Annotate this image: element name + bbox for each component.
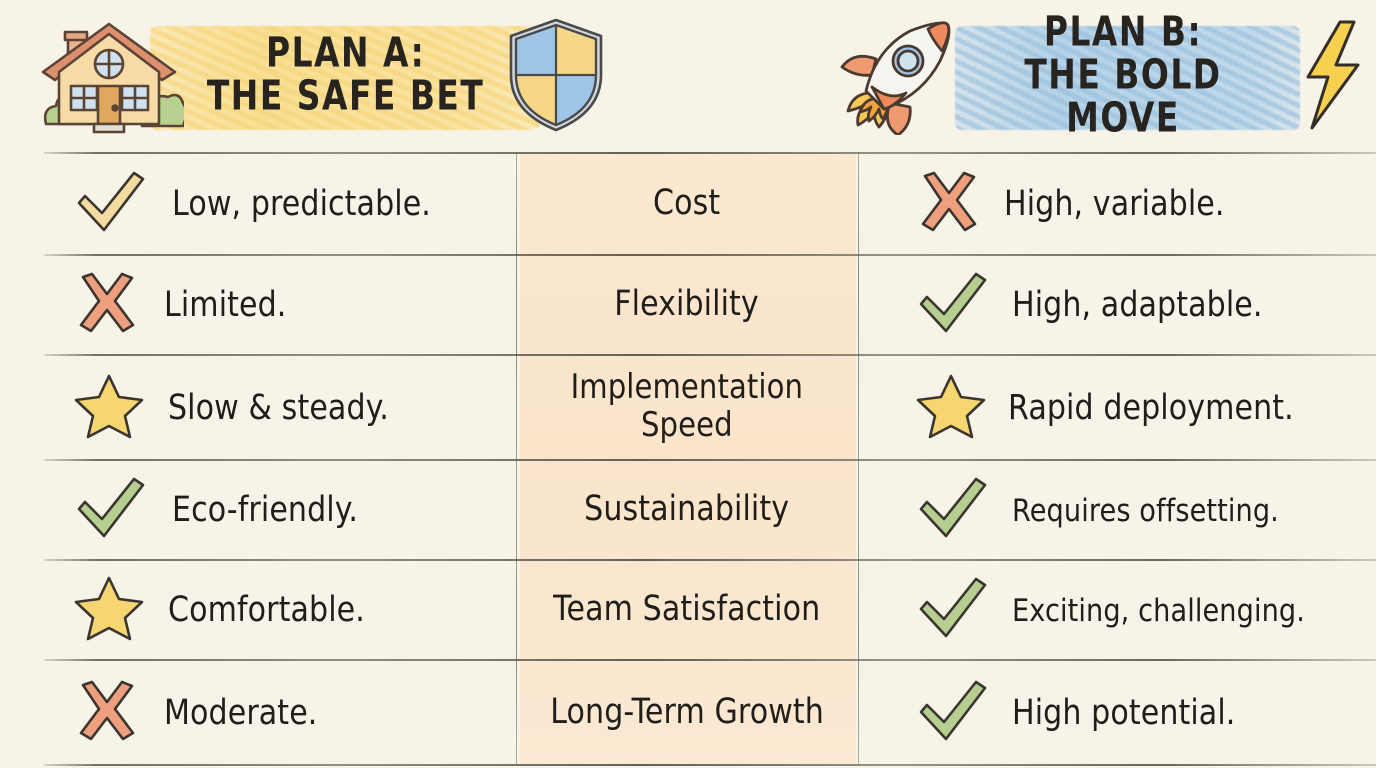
criterion-cell: ImplementationSpeed	[516, 355, 858, 460]
check-green-icon	[916, 270, 990, 340]
plan-b-title-line1: PLAN B:	[1044, 10, 1202, 56]
house-icon	[34, 16, 184, 138]
criterion-label: Sustainability	[585, 489, 790, 529]
table-row: Low, predictable.CostHigh, variable.	[0, 153, 1376, 255]
plan-a-value: Limited.	[164, 285, 286, 325]
plan-a-cell: Low, predictable.	[0, 153, 516, 255]
plan-a-value: Eco-friendly.	[172, 490, 358, 530]
criterion-cell: Long-Term Growth	[516, 660, 858, 765]
plan-a-title-line1: PLAN A:	[266, 31, 425, 77]
rocket-icon	[832, 15, 954, 139]
plan-b-value: High potential.	[1012, 692, 1235, 732]
plan-b-title: PLAN B: THE BOLD MOVE	[964, 12, 1282, 141]
plan-b-cell: Exciting, challenging.	[858, 560, 1376, 660]
cross-red-icon	[74, 271, 140, 339]
comparison-table-body: Low, predictable.CostHigh, variable.Limi…	[0, 153, 1376, 768]
check-yellow-icon	[74, 169, 148, 239]
plan-a-value: Comfortable.	[168, 590, 365, 630]
plan-b-header: PLAN B: THE BOLD MOVE	[820, 0, 1376, 153]
plan-b-title-line2: THE BOLD MOVE	[964, 55, 1282, 141]
plan-a-header: PLAN A: THE SAFE BET	[0, 0, 620, 153]
criterion-label: Flexibility	[615, 284, 760, 324]
check-green-icon	[74, 475, 148, 545]
row-divider	[44, 459, 1376, 461]
plan-a-value: Low, predictable.	[172, 184, 431, 224]
plan-a-cell: Moderate.	[0, 660, 516, 765]
criterion-cell: Cost	[516, 153, 858, 255]
row-divider	[44, 254, 1376, 256]
plan-b-cell: High potential.	[858, 660, 1376, 765]
plan-b-cell: Rapid deployment.	[858, 355, 1376, 460]
star-yellow-icon	[916, 372, 986, 444]
check-green-icon	[916, 475, 990, 545]
cross-red-icon	[916, 170, 982, 238]
table-row: Comfortable.Team SatisfactionExciting, c…	[0, 560, 1376, 660]
plan-a-value: Slow & steady.	[168, 387, 389, 427]
plan-a-value: Moderate.	[164, 692, 317, 732]
plan-b-value: High, adaptable.	[1012, 285, 1263, 325]
criterion-label: Cost	[653, 183, 720, 223]
plan-b-cell: Requires offsetting.	[858, 460, 1376, 560]
plan-a-title: PLAN A: THE SAFE BET	[207, 33, 485, 119]
criterion-line2: Speed	[641, 406, 733, 445]
row-divider	[44, 659, 1376, 661]
lightning-bolt-icon	[1292, 17, 1370, 137]
row-divider	[44, 152, 1376, 154]
table-row: Moderate.Long-Term GrowthHigh potential.	[0, 660, 1376, 765]
cross-red-icon	[74, 679, 140, 747]
plan-b-value: High, variable.	[1004, 184, 1225, 224]
table-row: Limited.FlexibilityHigh, adaptable.	[0, 255, 1376, 355]
plan-a-cell: Limited.	[0, 255, 516, 355]
plan-a-cell: Eco-friendly.	[0, 460, 516, 560]
plan-b-cell: High, variable.	[858, 153, 1376, 255]
criterion-cell: Flexibility	[516, 255, 858, 355]
criterion-label: Long-Term Growth	[550, 692, 824, 732]
plan-b-cell: High, adaptable.	[858, 255, 1376, 355]
plan-b-value: Requires offsetting.	[1012, 492, 1279, 529]
comparison-table-sheet: PLAN A: THE SAFE BET	[0, 0, 1376, 768]
plan-a-cell: Comfortable.	[0, 560, 516, 660]
star-yellow-icon	[74, 372, 144, 444]
star-yellow-icon	[74, 574, 144, 646]
criterion-cell: Team Satisfaction	[516, 560, 858, 660]
criterion-label: Team Satisfaction	[553, 589, 820, 629]
plan-a-title-line2: THE SAFE BET	[207, 77, 485, 120]
criterion-cell: Sustainability	[516, 460, 858, 560]
plan-b-value: Rapid deployment.	[1008, 387, 1294, 427]
row-divider	[44, 354, 1376, 356]
row-divider	[44, 559, 1376, 561]
check-green-icon	[916, 575, 990, 645]
table-header: PLAN A: THE SAFE BET	[0, 0, 1376, 153]
criterion-line1: Implementation	[571, 368, 803, 407]
shield-icon	[508, 17, 604, 137]
table-row: Slow & steady.ImplementationSpeedRapid d…	[0, 355, 1376, 460]
plan-a-cell: Slow & steady.	[0, 355, 516, 460]
plan-b-value: Exciting, challenging.	[1012, 592, 1305, 629]
table-row: Eco-friendly.SustainabilityRequires offs…	[0, 460, 1376, 560]
row-divider	[44, 764, 1376, 766]
check-green-icon	[916, 678, 990, 748]
